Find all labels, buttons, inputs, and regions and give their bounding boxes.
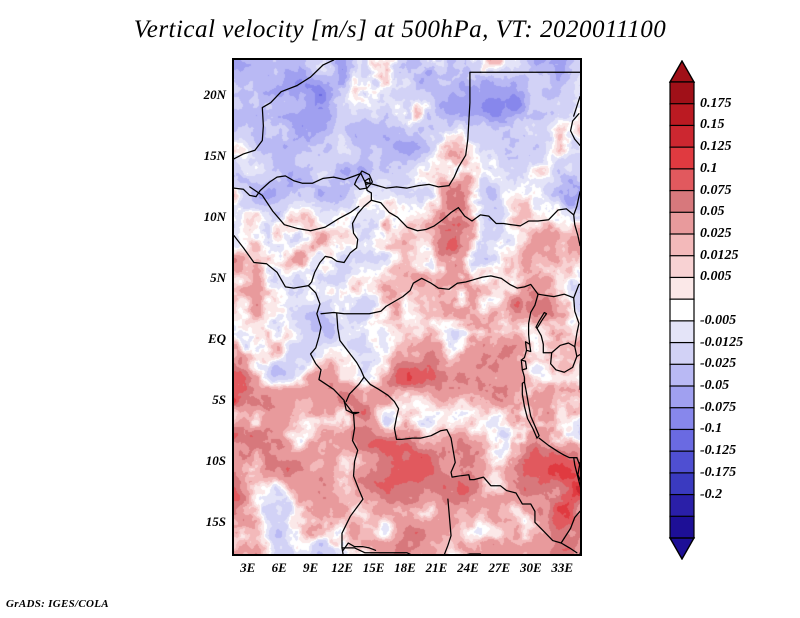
colorbar: 0.1750.150.1250.10.0750.050.0250.01250.0…: [668, 60, 798, 560]
map-plot-panel: [232, 58, 582, 556]
latitude-tick-label: 5N: [210, 270, 226, 286]
colorbar-tick-label: 0.1: [700, 161, 718, 177]
longitude-tick-label: 24E: [457, 560, 479, 576]
latitude-tick-label: 10S: [206, 453, 226, 469]
colorbar-tick-label: 0.005: [700, 269, 732, 285]
longitude-tick-label: 6E: [272, 560, 287, 576]
latitude-tick-label: 10N: [204, 209, 226, 225]
colorbar-tick-label: 0.025: [700, 226, 732, 242]
longitude-tick-label: 9E: [303, 560, 318, 576]
latitude-axis: 20N15N10N5NEQ5S10S15S: [182, 58, 226, 552]
colorbar-tick-label: -0.025: [700, 356, 736, 372]
colorbar-tick-label: 0.15: [700, 117, 725, 133]
colorbar-tick-label: -0.2: [700, 487, 722, 503]
colorbar-tick-label: 0.125: [700, 139, 732, 155]
colorbar-tick-label: -0.175: [700, 465, 736, 481]
latitude-tick-label: EQ: [208, 331, 226, 347]
colorbar-tick-label: -0.1: [700, 421, 722, 437]
longitude-tick-label: 12E: [331, 560, 353, 576]
longitude-axis: 3E6E9E12E15E18E21E24E27E30E33E: [232, 560, 578, 586]
colorbar-tick-label: -0.005: [700, 313, 736, 329]
colorbar-tick-label: 0.075: [700, 183, 732, 199]
longitude-tick-label: 21E: [426, 560, 448, 576]
colorbar-tick-label: -0.0125: [700, 335, 743, 351]
colorbar-swatches: [668, 60, 698, 560]
latitude-tick-label: 20N: [204, 87, 226, 103]
colorbar-tick-label: -0.05: [700, 378, 729, 394]
longitude-tick-label: 18E: [394, 560, 416, 576]
colorbar-tick-label: -0.125: [700, 443, 736, 459]
longitude-tick-label: 27E: [489, 560, 511, 576]
longitude-tick-label: 15E: [363, 560, 385, 576]
latitude-tick-label: 5S: [212, 392, 226, 408]
longitude-tick-label: 3E: [240, 560, 255, 576]
latitude-tick-label: 15S: [206, 514, 226, 530]
colorbar-tick-label: 0.05: [700, 204, 725, 220]
longitude-tick-label: 33E: [551, 560, 573, 576]
colorbar-tick-label: 0.0125: [700, 248, 739, 264]
page-title: Vertical velocity [m/s] at 500hPa, VT: 2…: [0, 16, 800, 44]
vertical-velocity-field: [234, 60, 580, 554]
longitude-tick-label: 30E: [520, 560, 542, 576]
latitude-tick-label: 15N: [204, 148, 226, 164]
grads-attribution: GrADS: IGES/COLA: [6, 598, 109, 610]
colorbar-tick-label: 0.175: [700, 96, 732, 112]
colorbar-tick-label: -0.075: [700, 400, 736, 416]
